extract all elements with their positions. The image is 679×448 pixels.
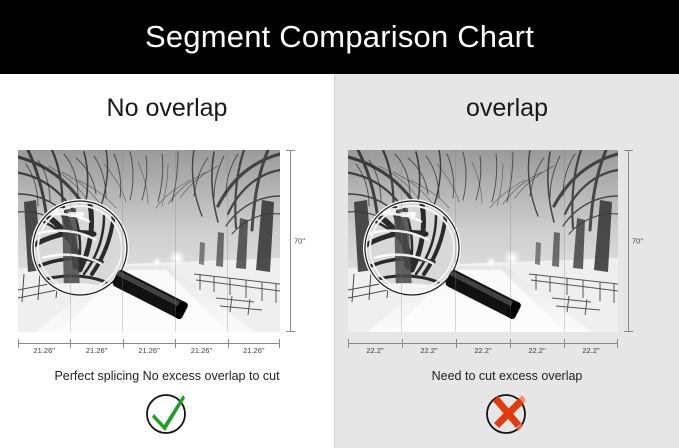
dimension-label-h: 22.2" — [564, 346, 618, 355]
dimension-label-h: 22.2" — [402, 346, 456, 355]
dimension-label-h: 21.26" — [228, 346, 280, 355]
figure-overlap: 22.2" 22.2" 22.2" 22.2" 22.2" 70" — [348, 150, 618, 332]
dimension-label-h: 21.26" — [123, 346, 175, 355]
red-cross-icon — [485, 390, 529, 436]
dimension-label-h: 22.2" — [510, 346, 564, 355]
dimension-label-v: 70" — [294, 237, 305, 246]
comparison-chart-page: Segment Comparison Chart No overlap — [0, 0, 679, 448]
dimension-line-horizontal-right: 22.2" 22.2" 22.2" 22.2" 22.2" — [348, 343, 618, 363]
dimension-line-vertical-right: 70" — [628, 150, 648, 332]
caption-overlap: Need to cut excess overlap — [335, 369, 679, 383]
photo-snowy-path-right — [348, 150, 618, 332]
page-header: Segment Comparison Chart — [0, 0, 679, 74]
dimension-line-vertical-left: 70" — [290, 150, 310, 332]
dimension-line-horizontal-left: 21.26" 21.26" 21.26" 21.26" 21.26" — [18, 343, 280, 363]
dimension-label-v: 70" — [632, 237, 643, 246]
panel-no-overlap: No overlap — [0, 74, 334, 448]
panel-heading-overlap: overlap — [335, 94, 679, 123]
caption-no-overlap: Perfect splicing No excess overlap to cu… — [0, 369, 334, 383]
panels-container: No overlap — [0, 74, 679, 448]
dimension-label-h: 22.2" — [348, 346, 402, 355]
dimension-label-h: 21.26" — [18, 346, 70, 355]
page-title: Segment Comparison Chart — [145, 19, 534, 55]
verdict-overlap — [335, 390, 679, 436]
dimension-label-h: 22.2" — [456, 346, 510, 355]
dimension-label-h: 21.26" — [175, 346, 227, 355]
green-check-icon — [145, 390, 189, 436]
figure-no-overlap: 21.26" 21.26" 21.26" 21.26" 21.26" 70" — [18, 150, 280, 332]
photo-snowy-path-left — [18, 150, 280, 332]
panel-heading-no-overlap: No overlap — [0, 94, 334, 123]
panel-overlap: overlap — [334, 74, 679, 448]
dimension-label-h: 21.26" — [70, 346, 122, 355]
verdict-no-overlap — [0, 390, 334, 436]
